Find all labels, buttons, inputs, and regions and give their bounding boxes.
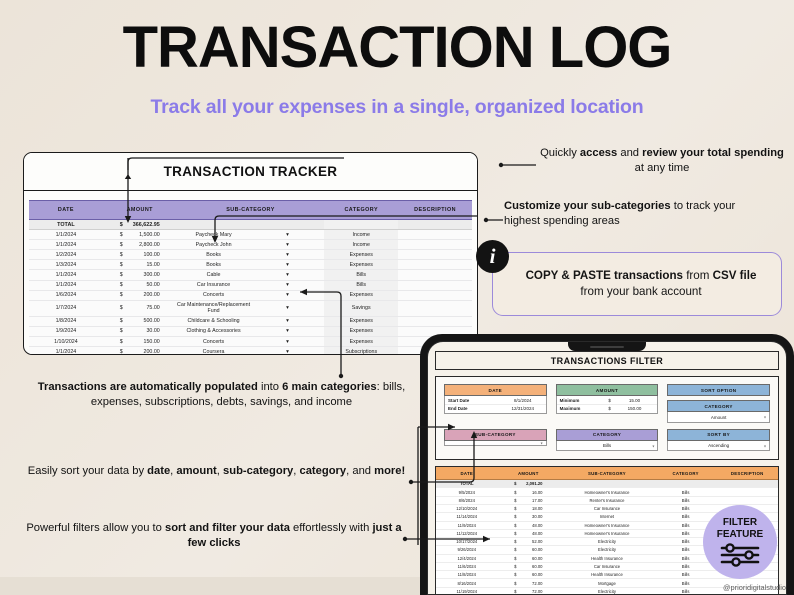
filter-badge-line1: FILTER — [723, 517, 757, 528]
cell-category: Expenses — [324, 337, 398, 347]
filter-header-sort-category: CATEGORY — [667, 400, 770, 412]
cell-category: Expenses — [324, 326, 398, 336]
tb-total-amount: $2,091.20 — [498, 480, 560, 488]
minimum-label: Minimum — [560, 398, 605, 403]
tb-cell-amount: $72.00 — [498, 587, 560, 595]
callout-total-spending: Quickly access and review your total spe… — [537, 146, 787, 176]
cell-sub-category[interactable]: Concerts — [177, 290, 251, 300]
callout-4-bold-d: category — [299, 465, 346, 477]
tb-cell-date: 11/19/2024 — [436, 587, 498, 595]
callout-info-text: COPY & PASTE transactions from CSV file … — [517, 268, 765, 300]
tb-col-header-amount[interactable]: AMOUNT — [498, 467, 560, 479]
cell-amount: $100.00 — [103, 250, 177, 260]
cell-sub-category[interactable]: Books — [177, 260, 251, 270]
sub-category-dropdown-icon[interactable]: ▾ — [250, 326, 324, 336]
tb-table-row[interactable]: 9/5/2024$16.00Homeowner's InsuranceBills — [436, 488, 778, 496]
cell-amount: $2,800.00 — [103, 240, 177, 250]
sub-category-dropdown-icon[interactable]: ▾ — [250, 270, 324, 280]
callout-5-text-b: effortlessly with — [290, 522, 373, 534]
tb-cell-category: Bills — [655, 513, 717, 521]
cell-sub-category[interactable]: Childcare & Schooling — [177, 316, 251, 326]
cell-description[interactable] — [398, 290, 472, 300]
col-header-sub-category[interactable]: SUB-CATEGORY — [177, 201, 325, 220]
table-row[interactable]: 1/8/2024$500.00Childcare & Schooling▾Exp… — [29, 316, 472, 326]
tb-cell-sub-category: Internet — [559, 513, 655, 521]
cell-amount: $500.00 — [103, 316, 177, 326]
tb-cell-category: Bills — [655, 562, 717, 570]
callout-3-bold-a: Transactions are automatically populated — [38, 381, 258, 393]
total-label: TOTAL — [29, 220, 103, 230]
tb-cell-description — [716, 488, 778, 496]
tb-cell-sub-category: Homeowner's Insurance — [559, 529, 655, 537]
tb-cell-amount: $60.00 — [498, 554, 560, 562]
cell-date: 1/7/2024 — [29, 300, 103, 316]
sub-category-dropdown-icon[interactable]: ▾ — [250, 347, 324, 355]
tb-cell-category: Bills — [655, 488, 717, 496]
tablet-notch — [568, 342, 646, 351]
filter-header-category: CATEGORY — [556, 429, 659, 441]
tb-cell-date: 8/6/2024 — [436, 496, 498, 504]
filter-card-sort-option[interactable]: SORT OPTION CATEGORY Amount — [667, 384, 770, 423]
filter-date-rows: Start Date 8/1/2024 End Date 12/31/2024 — [444, 396, 547, 414]
callout-powerful-filters: Powerful filters allow you to sort and f… — [24, 521, 404, 551]
tb-cell-amount: $30.00 — [498, 513, 560, 521]
total-amount: $366,622.95 — [103, 220, 177, 230]
callout-info-bold-a: COPY & PASTE transactions — [526, 269, 683, 282]
filter-feature-badge: FILTER FEATURE — [703, 505, 777, 579]
tb-cell-category: Bills — [655, 496, 717, 504]
tb-cell-sub-category: Electricity — [559, 538, 655, 546]
cell-amount: $50.00 — [103, 280, 177, 290]
tb-cell-amount: $72.00 — [498, 579, 560, 587]
sort-category-select[interactable]: Amount — [667, 412, 770, 422]
cell-sub-category[interactable]: Paycheck Mary — [177, 230, 251, 240]
callout-1-text-b: and — [617, 147, 642, 159]
sliders-icon — [719, 543, 761, 567]
start-date-label: Start Date — [448, 398, 503, 403]
tb-cell-category: Bills — [655, 587, 717, 595]
tb-cell-sub-category: Car Insurance — [559, 562, 655, 570]
callout-copy-paste-box: COPY & PASTE transactions from CSV file … — [492, 252, 782, 316]
tb-cell-date: 11/8/2024 — [436, 571, 498, 579]
filter-header-date: DATE — [444, 384, 547, 396]
cell-date: 1/1/2024 — [29, 347, 103, 355]
tb-cell-amount: $16.00 — [498, 488, 560, 496]
cell-amount: $15.00 — [103, 260, 177, 270]
table-row[interactable]: 1/1/2024$50.00Car Insurance▾Bills — [29, 280, 472, 290]
filter-header-sub-category: SUB-CATEGORY — [444, 429, 547, 441]
callout-3-text-a: into — [258, 381, 282, 393]
tb-cell-sub-category: Health Insurance — [559, 571, 655, 579]
cell-sub-category[interactable]: Car Insurance — [177, 280, 251, 290]
cell-date: 1/9/2024 — [29, 326, 103, 336]
table-row[interactable]: 1/6/2024$200.00Concerts▾Expenses — [29, 290, 472, 300]
cell-description[interactable] — [398, 300, 472, 316]
cell-category: Expenses — [324, 316, 398, 326]
sub-category-dropdown-icon[interactable]: ▾ — [250, 260, 324, 270]
maximum-value[interactable]: 150.00 — [615, 406, 655, 411]
table-row[interactable]: 1/1/2024$2,800.00Paycheck John▾Income — [29, 240, 472, 250]
tablet-title-bar: TRANSACTIONS FILTER — [435, 351, 779, 370]
filter-row-maximum[interactable]: Maximum $ 150.00 — [557, 405, 658, 413]
tb-cell-date: 11/6/2024 — [436, 562, 498, 570]
tb-cell-date: 12/4/2024 — [436, 554, 498, 562]
tb-cell-amount: $18.00 — [498, 504, 560, 512]
filter-row-end-date[interactable]: End Date 12/31/2024 — [445, 405, 546, 413]
cell-amount: $30.00 — [103, 326, 177, 336]
callout-4-text-e: , and — [346, 465, 374, 477]
tb-cell-sub-category: Health Insurance — [559, 554, 655, 562]
filter-amount-rows: Minimum $ 15.00 Maximum $ 150.00 — [556, 396, 659, 414]
callout-customize-subcategories: Customize your sub-categories to track y… — [504, 199, 772, 229]
table-row[interactable]: 1/10/2024$150.00Concerts▾Expenses — [29, 337, 472, 347]
info-icon: i — [476, 240, 509, 273]
sub-category-select[interactable] — [444, 441, 547, 446]
cell-amount: $1,500.00 — [103, 230, 177, 240]
callout-4-bold-a: date — [147, 465, 170, 477]
tb-cell-description — [716, 496, 778, 504]
cell-sub-category[interactable]: Cable — [177, 270, 251, 280]
tb-cell-date: 12/10/2024 — [436, 504, 498, 512]
sub-category-dropdown-icon[interactable]: ▾ — [250, 250, 324, 260]
col-header-date[interactable]: DATE — [29, 201, 103, 220]
tb-cell-date: 9/26/2024 — [436, 546, 498, 554]
callout-info-text-a: from — [683, 269, 713, 282]
cell-category: Income — [324, 240, 398, 250]
sub-category-dropdown-icon[interactable]: ▾ — [250, 290, 324, 300]
filter-card-sort-by[interactable]: SORT BY Ascending — [667, 429, 770, 452]
filter-header-amount: AMOUNT — [556, 384, 659, 396]
sub-category-dropdown-icon[interactable]: ▾ — [250, 316, 324, 326]
category-select[interactable]: Bills — [556, 441, 659, 451]
col-header-category[interactable]: CATEGORY — [324, 201, 398, 220]
cell-sub-category[interactable]: Concerts — [177, 337, 251, 347]
table-row[interactable]: 1/7/2024$75.00Car Maintenance/Replacemen… — [29, 300, 472, 316]
callout-info-bold-b: CSV file — [713, 269, 757, 282]
tb-cell-sub-category: Car Insurance — [559, 504, 655, 512]
col-header-amount[interactable]: AMOUNT — [103, 201, 177, 220]
filter-card-date[interactable]: DATE Start Date 8/1/2024 End Date 12/31/… — [444, 384, 547, 423]
cell-date: 1/1/2024 — [29, 270, 103, 280]
tb-table-row[interactable]: 8/6/2024$17.00Renter's InsuranceBills — [436, 496, 778, 504]
callout-5-bold-a: sort and filter your data — [165, 522, 290, 534]
callout-1-text-c: at any time — [635, 162, 690, 174]
sub-category-dropdown-icon[interactable]: ▾ — [250, 280, 324, 290]
cell-amount: $200.00 — [103, 347, 177, 355]
callout-auto-populated: Transactions are automatically populated… — [24, 380, 419, 410]
start-date-value[interactable]: 8/1/2024 — [503, 398, 543, 403]
cell-amount: $150.00 — [103, 337, 177, 347]
minimum-currency: $ — [605, 398, 615, 403]
cell-category: Income — [324, 230, 398, 240]
table-row[interactable]: 1/2/2024$100.00Books▾Expenses — [29, 250, 472, 260]
tb-cell-sub-category: Renter's Insurance — [559, 496, 655, 504]
cell-category: Expenses — [324, 260, 398, 270]
cell-date: 1/2/2024 — [29, 250, 103, 260]
tb-cell-amount: $52.00 — [498, 538, 560, 546]
filter-panel[interactable]: DATE Start Date 8/1/2024 End Date 12/31/… — [435, 376, 779, 460]
transaction-table-header-row: DATE AMOUNT SUB-CATEGORY CATEGORY DESCRI… — [29, 201, 472, 220]
transaction-table-head: DATE AMOUNT SUB-CATEGORY CATEGORY DESCRI… — [29, 201, 472, 220]
minimum-value[interactable]: 15.00 — [615, 398, 655, 403]
filtered-table-head: DATE AMOUNT SUB-CATEGORY CATEGORY DESCRI… — [436, 467, 778, 479]
cell-amount: $300.00 — [103, 270, 177, 280]
cell-date: 1/3/2024 — [29, 260, 103, 270]
sub-category-dropdown-icon[interactable]: ▾ — [250, 240, 324, 250]
table-row[interactable]: 1/1/2024$300.00Cable▾Bills — [29, 270, 472, 280]
maximum-currency: $ — [605, 406, 615, 411]
transaction-table[interactable]: DATE AMOUNT SUB-CATEGORY CATEGORY DESCRI… — [29, 200, 472, 355]
callout-2-bold-a: Customize your sub-categories — [504, 200, 671, 212]
callout-4-bold-b: amount — [176, 465, 216, 477]
tb-cell-sub-category: Electricity — [559, 587, 655, 595]
callout-1-bold-a: access — [580, 147, 617, 159]
filter-header-sort-by: SORT BY — [667, 429, 770, 441]
table-row[interactable]: 1/1/2024$1,500.00Paycheck Mary▾Income — [29, 230, 472, 240]
cell-sub-category[interactable]: Car Maintenance/Replacement Fund — [177, 300, 251, 316]
sort-by-select[interactable]: Ascending — [667, 441, 770, 451]
cell-date: 1/1/2024 — [29, 240, 103, 250]
cell-amount: $75.00 — [103, 300, 177, 316]
cell-description[interactable] — [398, 250, 472, 260]
tb-cell-category: Bills — [655, 579, 717, 587]
sub-category-dropdown-icon[interactable]: ▾ — [250, 337, 324, 347]
cell-category: Expenses — [324, 250, 398, 260]
filter-row-start-date[interactable]: Start Date 8/1/2024 — [445, 396, 546, 405]
tb-cell-date: 11/9/2024 — [436, 521, 498, 529]
filter-row-minimum[interactable]: Minimum $ 15.00 — [557, 396, 658, 405]
callout-5-text-a: Powerful filters allow you to — [26, 522, 165, 534]
cell-date: 1/10/2024 — [29, 337, 103, 347]
callout-4-bold-c: sub-category — [223, 465, 293, 477]
tb-cell-amount: $60.00 — [498, 571, 560, 579]
col-header-description[interactable]: DESCRIPTION — [398, 201, 472, 220]
cell-description[interactable] — [398, 316, 472, 326]
tb-total-label: TOTAL — [436, 480, 498, 488]
cell-date: 1/6/2024 — [29, 290, 103, 300]
tb-cell-date: 9/5/2024 — [436, 488, 498, 496]
cell-sub-category[interactable]: Paycheck John — [177, 240, 251, 250]
table-row[interactable]: 1/9/2024$30.00Clothing & Accessories▾Exp… — [29, 326, 472, 336]
callout-1-bold-b: review your total spending — [642, 147, 784, 159]
callout-info-text-b: from your bank account — [580, 285, 701, 298]
tb-cell-amount: $60.00 — [498, 562, 560, 570]
tb-cell-amount: $48.00 — [498, 521, 560, 529]
spreadsheet-body: DATE AMOUNT SUB-CATEGORY CATEGORY DESCRI… — [24, 191, 477, 355]
cell-date: 1/1/2024 — [29, 280, 103, 290]
watermark: @prioridigitalstudio — [723, 583, 786, 592]
cell-description[interactable] — [398, 260, 472, 270]
tb-cell-amount: $48.00 — [498, 529, 560, 537]
cell-sub-category[interactable]: Clothing & Accessories — [177, 326, 251, 336]
tb-cell-category: Bills — [655, 504, 717, 512]
cell-description[interactable] — [398, 240, 472, 250]
tb-cell-date: 10/17/2024 — [436, 538, 498, 546]
cell-category: Expenses — [324, 290, 398, 300]
table-row[interactable]: 1/1/2024$200.00Coursera▾Subscriptions — [29, 347, 472, 355]
tb-cell-sub-category: Homeowner's Insurance — [559, 488, 655, 496]
filter-badge-line2: FEATURE — [717, 529, 763, 540]
filter-card-sub-category[interactable]: SUB-CATEGORY — [444, 429, 547, 452]
desktop-spreadsheet[interactable]: TRANSACTION TRACKER DATE AMOUNT SUB-CATE… — [23, 152, 478, 355]
filter-card-amount[interactable]: AMOUNT Minimum $ 15.00 Maximum $ 150.00 — [556, 384, 659, 423]
callout-1-text-a: Quickly — [540, 147, 580, 159]
cell-description[interactable] — [398, 270, 472, 280]
callout-4-bold-e: more! — [374, 465, 405, 477]
tb-cell-amount: $17.00 — [498, 496, 560, 504]
cell-sub-category[interactable]: Books — [177, 250, 251, 260]
callout-easily-sort: Easily sort your data by date, amount, s… — [24, 464, 409, 479]
tb-cell-sub-category: Homeowner's Insurance — [559, 521, 655, 529]
spreadsheet-title: TRANSACTION TRACKER — [164, 164, 338, 179]
tb-col-header-sub-category[interactable]: SUB-CATEGORY — [559, 467, 655, 479]
end-date-label: End Date — [448, 406, 503, 411]
page-subtitle: Track all your expenses in a single, org… — [0, 96, 794, 119]
cell-description[interactable] — [398, 280, 472, 290]
tb-cell-amount: $60.00 — [498, 546, 560, 554]
cell-category: Bills — [324, 280, 398, 290]
sub-category-dropdown-icon[interactable]: ▾ — [250, 300, 324, 316]
tablet-title: TRANSACTIONS FILTER — [551, 356, 663, 366]
tb-cell-category: Bills — [655, 571, 717, 579]
cell-sub-category[interactable]: Coursera — [177, 347, 251, 355]
table-row[interactable]: 1/3/2024$15.00Books▾Expenses — [29, 260, 472, 270]
tb-table-row-total[interactable]: TOTAL$2,091.20 — [436, 480, 778, 488]
cell-amount: $200.00 — [103, 290, 177, 300]
transaction-table-body: TOTAL$366,622.951/1/2024$1,500.00Paychec… — [29, 220, 472, 356]
maximum-label: Maximum — [560, 406, 605, 411]
callout-4-text-a: Easily sort your data by — [28, 465, 147, 477]
filter-header-sort-option: SORT OPTION — [667, 384, 770, 396]
cell-category: Subscriptions — [324, 347, 398, 355]
filtered-table-header-row: DATE AMOUNT SUB-CATEGORY CATEGORY DESCRI… — [436, 467, 778, 479]
callout-3-bold-b: 6 main categories — [282, 381, 377, 393]
cell-date: 1/8/2024 — [29, 316, 103, 326]
tb-col-header-description[interactable]: DESCRIPTION — [716, 467, 778, 479]
tb-col-header-date[interactable]: DATE — [436, 467, 498, 479]
tb-cell-date: 11/12/2024 — [436, 529, 498, 537]
cell-category: Savings — [324, 300, 398, 316]
filter-card-category[interactable]: CATEGORY Bills — [556, 429, 659, 452]
cell-category: Bills — [324, 270, 398, 280]
tb-cell-date: 11/14/2024 — [436, 513, 498, 521]
tb-col-header-category[interactable]: CATEGORY — [655, 467, 717, 479]
tb-cell-sub-category: Mortgage — [559, 579, 655, 587]
tb-cell-date: 8/16/2024 — [436, 579, 498, 587]
spreadsheet-title-bar: TRANSACTION TRACKER — [24, 153, 477, 191]
page-title: TRANSACTION LOG — [0, 14, 794, 81]
end-date-value[interactable]: 12/31/2024 — [503, 406, 543, 411]
cell-description[interactable] — [398, 230, 472, 240]
cell-date: 1/1/2024 — [29, 230, 103, 240]
tb-cell-sub-category: Electricity — [559, 546, 655, 554]
sub-category-dropdown-icon[interactable]: ▾ — [250, 230, 324, 240]
table-row-total[interactable]: TOTAL$366,622.95 — [29, 220, 472, 230]
